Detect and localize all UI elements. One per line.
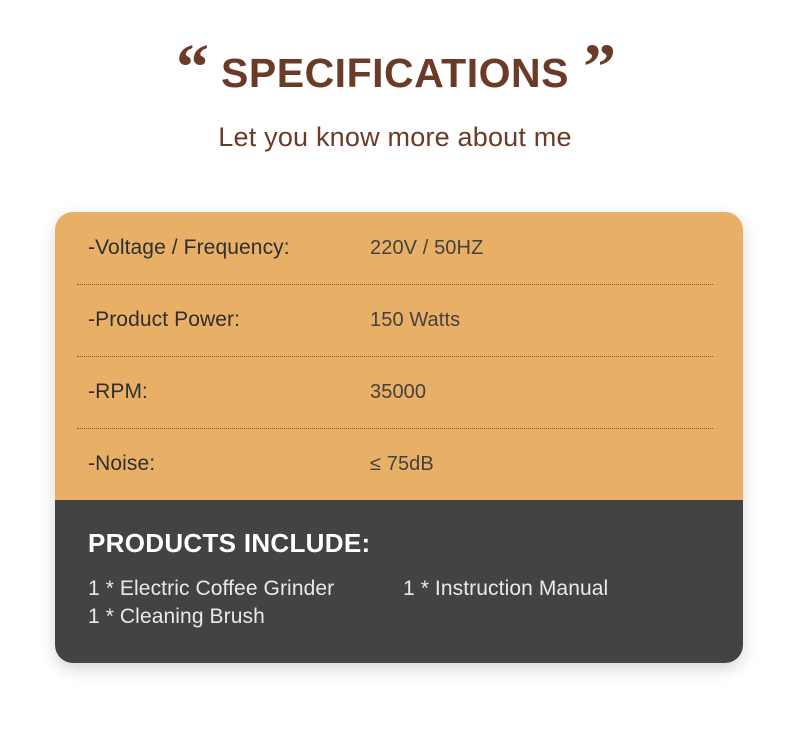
spec-value: 35000 xyxy=(370,381,426,404)
products-include-list: 1 * Electric Coffee Grinder 1 * Instruct… xyxy=(88,577,743,629)
quote-open-icon: “ xyxy=(176,38,207,99)
list-item: 1 * Cleaning Brush xyxy=(88,605,403,629)
spec-value: 150 Watts xyxy=(370,309,460,332)
products-include-heading: PRODUCTS INCLUDE: xyxy=(88,528,743,559)
spec-label: -Product Power: xyxy=(55,308,370,332)
spec-label: -RPM: xyxy=(55,380,370,404)
spec-label: -Voltage / Frequency: xyxy=(55,236,370,260)
quote-close-icon: ” xyxy=(583,38,614,99)
table-row: -Product Power: 150 Watts xyxy=(55,284,743,356)
spec-value: 220V / 50HZ xyxy=(370,237,483,260)
table-row: -Noise: ≤ 75dB xyxy=(55,428,743,500)
page-title: SPECIFICATIONS xyxy=(221,53,569,94)
specifications-card: -Voltage / Frequency: 220V / 50HZ -Produ… xyxy=(55,212,743,663)
spec-table: -Voltage / Frequency: 220V / 50HZ -Produ… xyxy=(55,212,743,500)
spec-value: ≤ 75dB xyxy=(370,453,434,476)
table-row: -Voltage / Frequency: 220V / 50HZ xyxy=(55,212,743,284)
products-include-section: PRODUCTS INCLUDE: 1 * Electric Coffee Gr… xyxy=(55,500,743,663)
table-row: -RPM: 35000 xyxy=(55,356,743,428)
page-subtitle: Let you know more about me xyxy=(0,122,790,153)
title-row: “ SPECIFICATIONS ” xyxy=(0,34,790,106)
list-item: 1 * Electric Coffee Grinder xyxy=(88,577,403,601)
spec-label: -Noise: xyxy=(55,452,370,476)
list-item: 1 * Instruction Manual xyxy=(403,577,743,601)
page-header: “ SPECIFICATIONS ” Let you know more abo… xyxy=(0,0,790,153)
